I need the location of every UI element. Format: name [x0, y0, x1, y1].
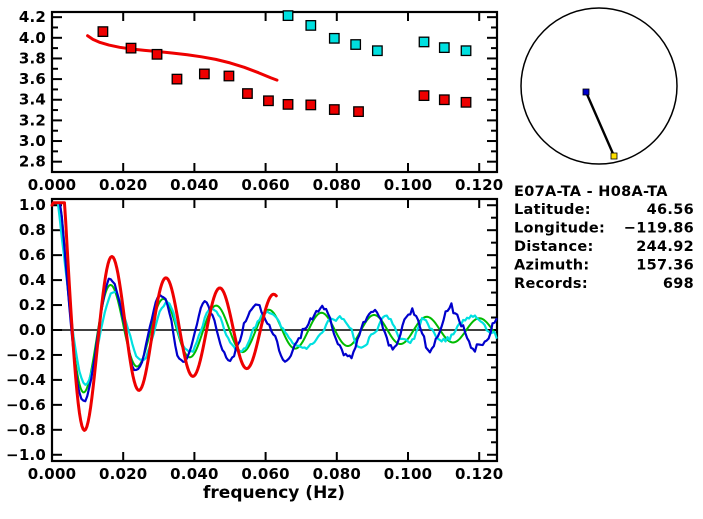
- dispersion-marker-red: [354, 107, 364, 117]
- dispersion-marker-red: [440, 95, 450, 105]
- dispersion-marker-cyan: [461, 46, 471, 56]
- bottom-ytick-label: 0.4: [19, 271, 46, 289]
- top-ytick-label: 3.4: [19, 91, 46, 109]
- bottom-xtick-label: 0.040: [170, 465, 218, 483]
- info-row-value: −119.86: [624, 221, 694, 237]
- top-panel-xtick-labels: 0.0000.0200.0400.0600.0800.1000.120: [28, 176, 504, 194]
- dispersion-marker-cyan: [330, 34, 340, 44]
- info-row-value: 46.56: [647, 202, 694, 218]
- x-axis-title: frequency (Hz): [203, 483, 345, 503]
- dispersion-marker-red: [126, 43, 136, 53]
- bottom-xtick-label: 0.000: [28, 465, 76, 483]
- info-row-label: Distance:: [514, 239, 594, 255]
- dispersion-marker-red: [306, 100, 316, 110]
- bottom-xtick-label: 0.100: [384, 465, 432, 483]
- dispersion-marker-cyan: [373, 46, 383, 56]
- bottom-xtick-label: 0.060: [241, 465, 289, 483]
- dispersion-marker-red: [98, 27, 108, 37]
- dispersion-marker-cyan: [419, 37, 429, 47]
- dispersion-marker-cyan: [351, 40, 361, 50]
- figure-canvas: 2.83.03.23.43.63.84.04.2 0.0000.0200.040…: [0, 0, 703, 519]
- bottom-ytick-label: 0.6: [19, 246, 46, 264]
- bottom-ytick-label: −1.0: [6, 446, 46, 464]
- dispersion-marker-cyan: [440, 43, 450, 53]
- bottom-ytick-label: 0.8: [19, 221, 46, 239]
- top-panel-ytick-labels: 2.83.03.23.43.63.84.04.2: [19, 8, 46, 171]
- dispersion-marker-red: [419, 91, 429, 101]
- coherency-curve-red: [52, 203, 276, 431]
- dispersion-marker-red: [172, 74, 182, 84]
- dispersion-marker-red: [330, 105, 340, 115]
- bottom-ytick-label: 0.2: [19, 296, 46, 314]
- bottom-ytick-label: −0.4: [6, 371, 46, 389]
- info-row-value: 698: [663, 276, 694, 292]
- dispersion-marker-red: [243, 89, 253, 99]
- info-row-label: Longitude:: [514, 221, 605, 237]
- top-ytick-label: 2.8: [19, 153, 46, 171]
- info-row-label: Records:: [514, 276, 588, 292]
- station-endpoint-dot: [611, 153, 617, 159]
- top-xtick-label: 0.100: [384, 176, 432, 194]
- coherency-curve-blue: [52, 203, 496, 402]
- azimuth-circle: [521, 8, 677, 164]
- info-row-label: Azimuth:: [514, 258, 590, 274]
- bottom-ytick-label: 1.0: [19, 196, 46, 214]
- station-pair-title: E07A-TA - H08A-TA: [514, 184, 668, 200]
- dispersion-marker-red: [283, 100, 293, 110]
- bottom-ytick-label: −0.2: [6, 346, 46, 364]
- azimuth-diagram: [521, 8, 677, 164]
- dispersion-marker-red: [152, 50, 162, 60]
- plot-svg: 2.83.03.23.43.63.84.04.2 0.0000.0200.040…: [0, 0, 703, 519]
- bottom-ytick-label: −0.8: [6, 421, 46, 439]
- top-ytick-label: 3.8: [19, 49, 46, 67]
- dispersion-points-red: [98, 27, 471, 117]
- bottom-xtick-label: 0.120: [455, 465, 503, 483]
- top-panel-ticks: [52, 12, 497, 172]
- station-info-rows: Latitude:46.56Longitude:−119.86Distance:…: [514, 202, 694, 292]
- info-row-value: 157.36: [636, 258, 694, 274]
- bottom-ytick-label: −0.6: [6, 396, 46, 414]
- dispersion-curve-path: [88, 36, 277, 80]
- top-xtick-label: 0.080: [313, 176, 361, 194]
- info-row-label: Latitude:: [514, 202, 591, 218]
- top-xtick-label: 0.000: [28, 176, 76, 194]
- top-xtick-label: 0.060: [241, 176, 289, 194]
- top-panel: 2.83.03.23.43.63.84.04.2 0.0000.0200.040…: [19, 8, 504, 194]
- dispersion-marker-red: [224, 71, 234, 81]
- info-row-value: 244.92: [636, 239, 694, 255]
- top-ytick-label: 4.0: [19, 29, 46, 47]
- dispersion-points-cyan: [283, 11, 471, 56]
- dispersion-reference-curve: [88, 36, 277, 80]
- top-xtick-label: 0.020: [99, 176, 147, 194]
- bottom-xtick-label: 0.080: [313, 465, 361, 483]
- bottom-xtick-label: 0.020: [99, 465, 147, 483]
- top-xtick-label: 0.040: [170, 176, 218, 194]
- station-center-dot: [583, 89, 589, 95]
- dispersion-marker-red: [200, 69, 210, 79]
- top-xtick-label: 0.120: [455, 176, 503, 194]
- dispersion-marker-red: [264, 96, 274, 106]
- dispersion-marker-red: [461, 98, 471, 108]
- top-panel-frame: [52, 12, 497, 172]
- dispersion-marker-cyan: [306, 21, 316, 31]
- top-ytick-label: 3.6: [19, 70, 46, 88]
- bottom-panel-ytick-labels: −1.0−0.8−0.6−0.4−0.20.00.20.40.60.81.0: [6, 196, 46, 464]
- bottom-panel: −1.0−0.8−0.6−0.4−0.20.00.20.40.60.81.0 0…: [6, 196, 503, 503]
- top-ytick-label: 3.0: [19, 132, 46, 150]
- top-ytick-label: 4.2: [19, 8, 46, 26]
- bottom-ytick-label: 0.0: [19, 321, 46, 339]
- station-path-line: [586, 92, 614, 156]
- bottom-panel-xtick-labels: 0.0000.0200.0400.0600.0800.1000.120: [28, 465, 504, 483]
- top-ytick-label: 3.2: [19, 111, 46, 129]
- dispersion-marker-cyan: [283, 11, 293, 21]
- coherency-curves: [52, 203, 496, 431]
- station-info-block: E07A-TA - H08A-TA Latitude:46.56Longitud…: [514, 184, 694, 292]
